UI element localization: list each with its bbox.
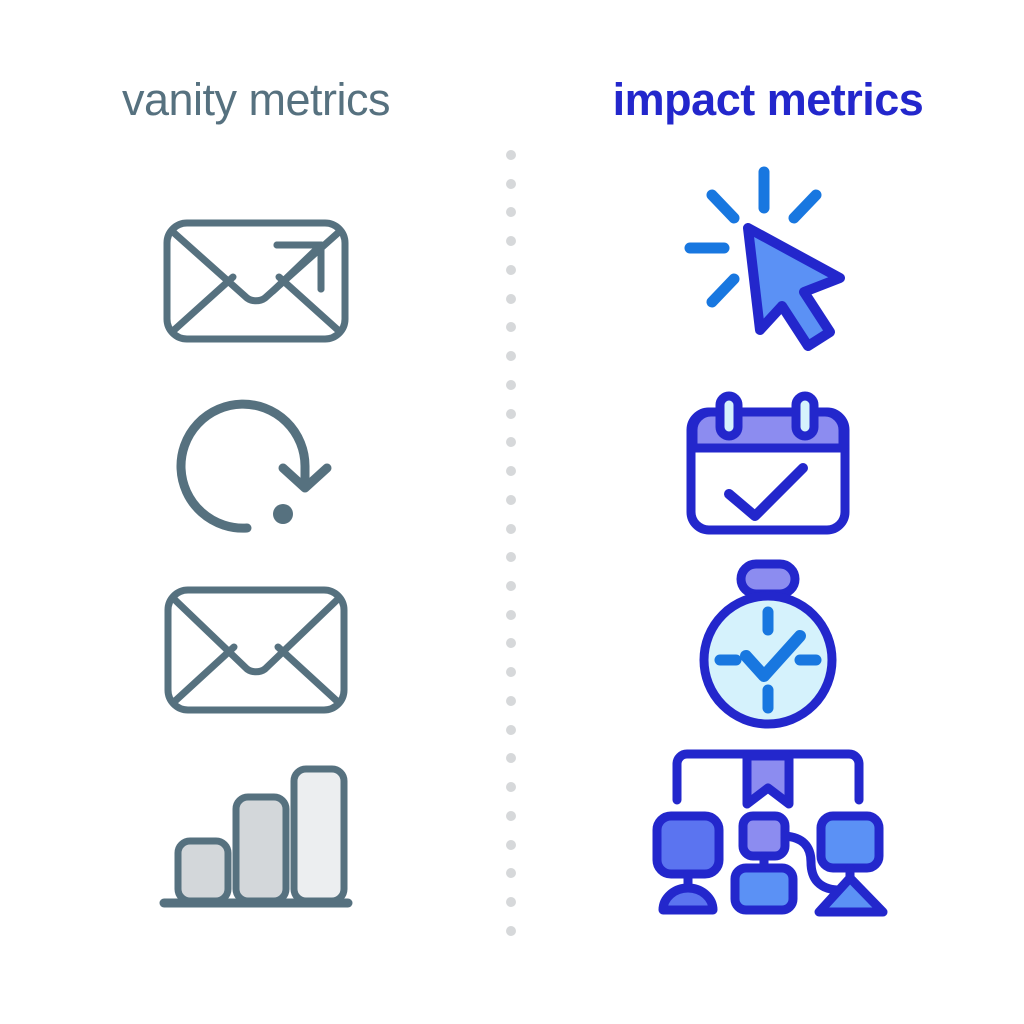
network-team-icon	[648, 748, 888, 918]
divider-dot	[506, 610, 516, 620]
divider-dot	[506, 581, 516, 591]
divider-dot	[506, 926, 516, 936]
divider-dot	[506, 811, 516, 821]
divider-dot	[506, 638, 516, 648]
divider-dot	[506, 437, 516, 447]
dotted-divider	[505, 150, 517, 936]
divider-dot	[506, 351, 516, 361]
impact-metrics-column: impact metrics	[512, 0, 1024, 1024]
divider-dot	[506, 725, 516, 735]
divider-dot	[506, 753, 516, 763]
divider-dot	[506, 524, 516, 534]
refresh-circle-arrow-icon	[136, 380, 376, 550]
divider-dot	[506, 179, 516, 189]
divider-dot	[506, 265, 516, 275]
impact-metrics-title: impact metrics	[512, 72, 1024, 128]
divider-dot	[506, 150, 516, 160]
divider-dot	[506, 466, 516, 476]
calendar-check-icon	[648, 380, 888, 550]
divider-dot	[506, 322, 516, 332]
divider-dot	[506, 840, 516, 850]
envelope-arrow-up-icon	[136, 190, 376, 360]
bar-chart-icon	[136, 750, 376, 920]
divider-dot	[506, 897, 516, 907]
divider-dot	[506, 667, 516, 677]
divider-dot	[506, 294, 516, 304]
envelope-icon	[136, 565, 376, 735]
divider-dot	[506, 236, 516, 246]
divider-dot	[506, 207, 516, 217]
vanity-metrics-column: vanity metrics	[0, 0, 512, 1024]
vanity-metrics-title: vanity metrics	[0, 72, 512, 128]
divider-dot	[506, 552, 516, 562]
divider-dot	[506, 380, 516, 390]
click-cursor-icon	[648, 170, 888, 340]
divider-dot	[506, 696, 516, 706]
divider-dot	[506, 409, 516, 419]
divider-dot	[506, 868, 516, 878]
infographic-canvas: vanity metrics	[0, 0, 1024, 1024]
divider-dot	[506, 782, 516, 792]
divider-dot	[506, 495, 516, 505]
stopwatch-icon	[648, 560, 888, 730]
